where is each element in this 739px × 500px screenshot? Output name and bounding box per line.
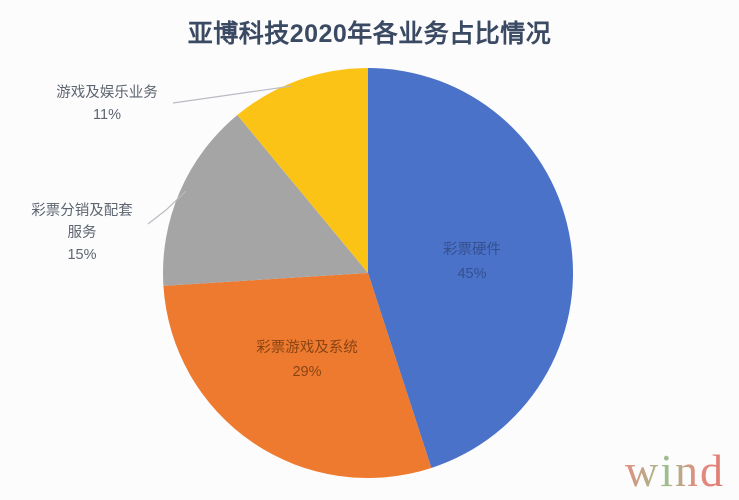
slice-label-entertainment-name: 游戏及娱乐业务 xyxy=(56,85,158,101)
slice-label-hardware-pct: 45% xyxy=(398,262,546,286)
slice-label-hardware: 彩票硬件 45% xyxy=(398,238,546,286)
slice-label-games-systems-pct: 29% xyxy=(222,360,392,384)
slice-label-distribution-line1: 彩票分销及配套 xyxy=(31,203,133,219)
slice-label-hardware-name: 彩票硬件 xyxy=(443,242,501,258)
slice-label-entertainment-pct: 11% xyxy=(22,104,192,126)
slice-label-entertainment: 游戏及娱乐业务 11% xyxy=(22,82,192,126)
chart-canvas: 亚博科技2020年各业务占比情况 游戏及娱乐业务 11% 彩票分销及配套 服务 … xyxy=(0,0,739,500)
wind-watermark: wind xyxy=(625,448,725,494)
slice-label-distribution-line2: 服务 xyxy=(2,222,162,244)
slice-label-games-systems: 彩票游戏及系统 29% xyxy=(222,336,392,384)
slice-label-distribution: 彩票分销及配套 服务 15% xyxy=(2,200,162,266)
slice-label-games-systems-name: 彩票游戏及系统 xyxy=(256,340,358,356)
slice-label-distribution-pct: 15% xyxy=(2,244,162,266)
